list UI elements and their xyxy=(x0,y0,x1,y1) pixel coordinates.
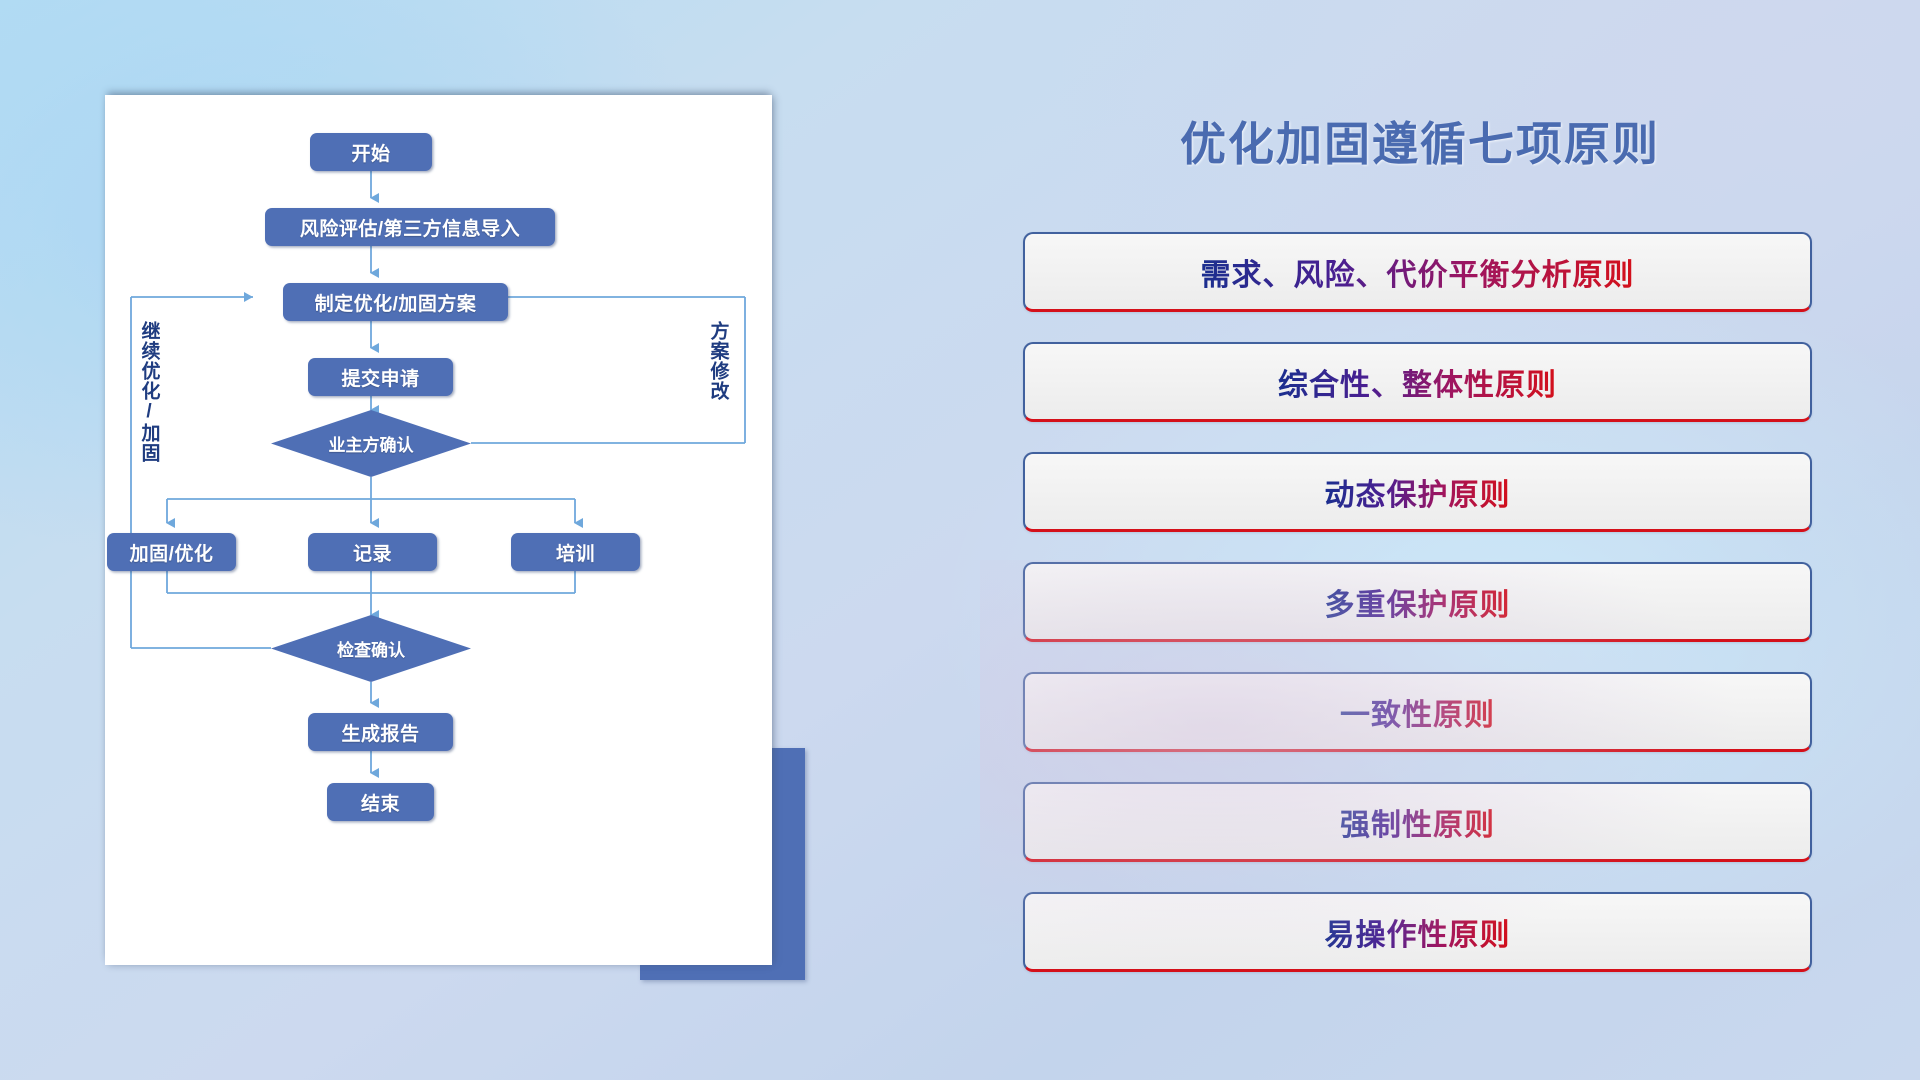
flow-node-inspection-confirmation[interactable]: 检查确认 xyxy=(271,615,471,682)
principles-list: 需求、风险、代价平衡分析原则 综合性、整体性原则 动态保护原则 多重保护原则 一… xyxy=(1023,232,1812,972)
flow-node-label: 提交申请 xyxy=(341,364,419,391)
flowchart-panel: 开始 风险评估/第三方信息导入 制定优化/加固方案 提交申请 业主方确认 加固/… xyxy=(105,95,772,965)
flow-node-label: 风险评估/第三方信息导入 xyxy=(300,214,520,241)
slide-canvas: 开始 风险评估/第三方信息导入 制定优化/加固方案 提交申请 业主方确认 加固/… xyxy=(0,0,1920,1080)
flow-node-end[interactable]: 结束 xyxy=(327,783,434,821)
flow-node-start[interactable]: 开始 xyxy=(310,133,432,171)
principle-label: 多重保护原则 xyxy=(1325,580,1511,624)
flow-node-label: 检查确认 xyxy=(337,636,405,661)
edge-label-plan-revision: 方案修改 xyxy=(707,321,728,401)
principle-label: 易操作性原则 xyxy=(1325,910,1511,954)
principle-label: 综合性、整体性原则 xyxy=(1278,360,1557,404)
principle-label: 动态保护原则 xyxy=(1325,470,1511,514)
edge-label-continue-optimize: 继续优化/加固 xyxy=(138,321,159,463)
principle-card[interactable]: 一致性原则 xyxy=(1023,672,1812,752)
principle-card[interactable]: 需求、风险、代价平衡分析原则 xyxy=(1023,232,1812,312)
principle-card[interactable]: 综合性、整体性原则 xyxy=(1023,342,1812,422)
principle-card[interactable]: 多重保护原则 xyxy=(1023,562,1812,642)
principle-label: 一致性原则 xyxy=(1340,690,1495,734)
flow-node-label: 生成报告 xyxy=(341,719,419,746)
flow-node-training[interactable]: 培训 xyxy=(511,533,640,571)
flow-node-submit-application[interactable]: 提交申请 xyxy=(308,358,453,396)
page-title: 优化加固遵循七项原则 xyxy=(1020,108,1820,174)
principle-label: 需求、风险、代价平衡分析原则 xyxy=(1201,250,1635,294)
flow-node-record[interactable]: 记录 xyxy=(308,533,437,571)
principle-card[interactable]: 动态保护原则 xyxy=(1023,452,1812,532)
principle-card[interactable]: 易操作性原则 xyxy=(1023,892,1812,972)
principle-label: 强制性原则 xyxy=(1340,800,1495,844)
flow-node-label: 制定优化/加固方案 xyxy=(315,289,477,316)
flow-node-make-plan[interactable]: 制定优化/加固方案 xyxy=(283,283,508,321)
flow-node-label: 加固/优化 xyxy=(130,539,214,566)
flow-node-label: 培训 xyxy=(556,539,595,566)
flow-node-owner-confirmation[interactable]: 业主方确认 xyxy=(271,410,471,477)
flow-node-label: 记录 xyxy=(353,539,392,566)
flow-node-risk-assessment[interactable]: 风险评估/第三方信息导入 xyxy=(265,208,555,246)
principle-card[interactable]: 强制性原则 xyxy=(1023,782,1812,862)
flow-node-label: 业主方确认 xyxy=(329,431,414,456)
flow-node-label: 开始 xyxy=(351,139,390,166)
flow-node-reinforce-optimize[interactable]: 加固/优化 xyxy=(107,533,236,571)
flow-node-label: 结束 xyxy=(361,789,400,816)
flow-node-generate-report[interactable]: 生成报告 xyxy=(308,713,453,751)
